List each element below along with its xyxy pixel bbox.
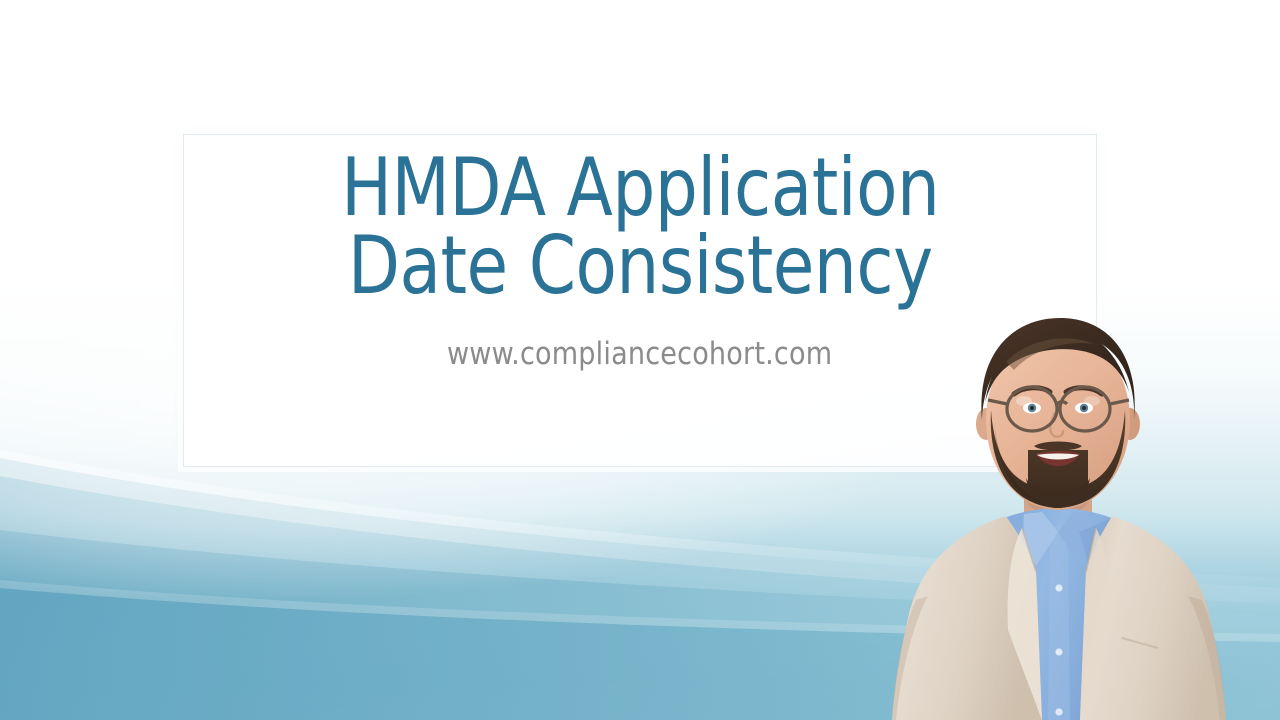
presenter-torso — [892, 476, 1226, 720]
page-title: HMDA Application Date Consistency — [341, 149, 939, 306]
presentation-slide: HMDA Application Date Consistency www.co… — [0, 0, 1280, 720]
website-subtitle: www.compliancecohort.com — [447, 336, 832, 372]
presenter-head — [976, 318, 1140, 510]
title-line-2: Date Consistency — [341, 227, 939, 305]
presenter-video-overlay — [836, 300, 1280, 720]
